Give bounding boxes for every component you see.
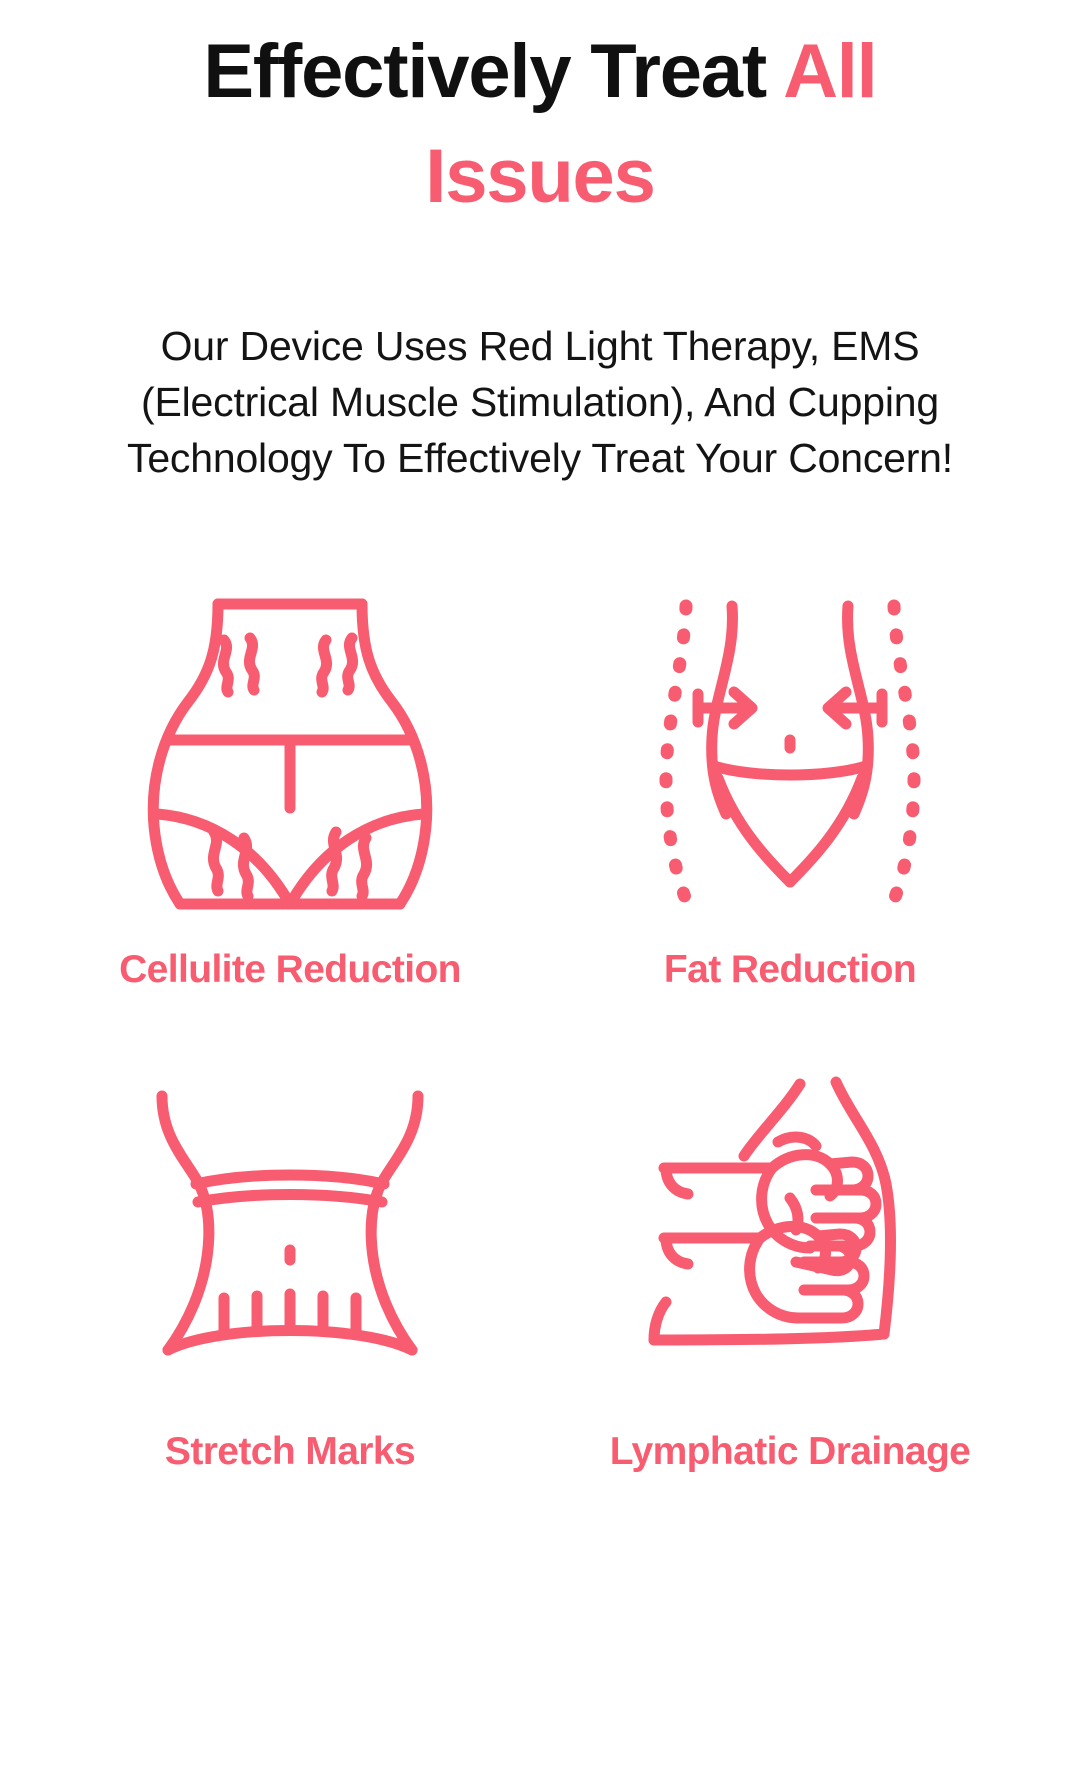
buttocks-cellulite-icon [140, 582, 440, 912]
page-title: Effectively Treat All Issues [40, 0, 1040, 230]
page-title-accent-issues: Issues [425, 134, 654, 219]
page-title-accent-all: All [783, 29, 877, 114]
page-title-primary: Effectively Treat [203, 29, 783, 114]
feature-item-lymphatic-drainage: Lymphatic Drainage [540, 1072, 1040, 1474]
waist-slimming-arrows-icon [640, 582, 940, 912]
feature-label: Cellulite Reduction [119, 948, 461, 992]
feature-item-fat-reduction: Fat Reduction [540, 582, 1040, 992]
feature-item-cellulite-reduction: Cellulite Reduction [40, 582, 540, 992]
feature-item-stretch-marks: Stretch Marks [40, 1072, 540, 1474]
feature-label: Stretch Marks [165, 1430, 415, 1474]
feature-label: Lymphatic Drainage [610, 1430, 971, 1474]
feature-grid: Cellulite Reduction [40, 486, 1040, 1474]
feature-label: Fat Reduction [664, 948, 916, 992]
massage-hands-icon [640, 1072, 940, 1372]
intro-paragraph: Our Device Uses Red Light Therapy, EMS (… [110, 230, 970, 486]
abdomen-stretch-marks-icon [140, 1072, 440, 1372]
promo-page: Effectively Treat All Issues Our Device … [0, 0, 1080, 1774]
